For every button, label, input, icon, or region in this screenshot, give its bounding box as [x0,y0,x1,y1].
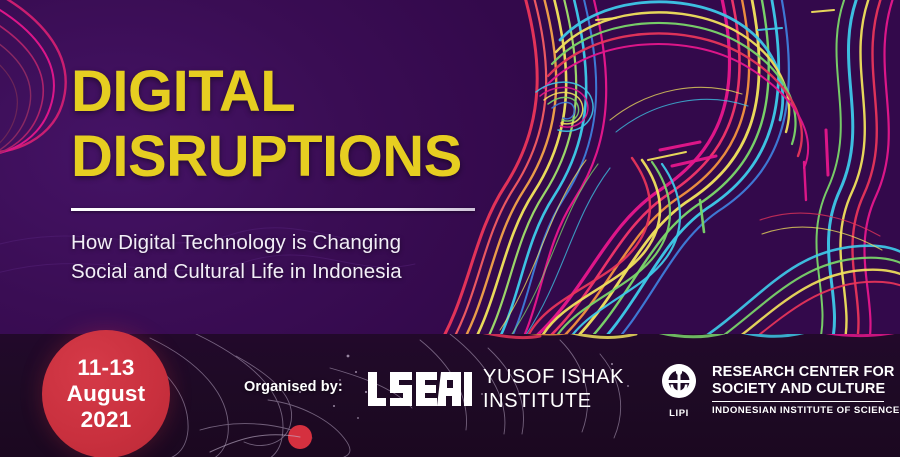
event-date-month: August [67,381,146,407]
iseas-institute-name: YUSOF ISHAK INSTITUTE [483,365,624,413]
iseas-name-line-2: INSTITUTE [483,389,624,413]
banner-hero-area: DIGITAL DISRUPTIONS How Digital Technolo… [0,0,900,334]
iseas-name-line-1: YUSOF ISHAK [483,365,624,389]
lipi-text-block: RESEARCH CENTER FOR SOCIETY AND CULTURE … [712,362,900,416]
title-divider [71,208,475,211]
lipi-name-line-2: SOCIETY AND CULTURE [712,381,900,398]
lipi-circle-cross-icon [656,362,702,402]
lipi-logo-lockup: LIPI RESEARCH CENTER FOR SOCIETY AND CUL… [656,362,900,419]
lipi-emblem-label: LIPI [656,408,702,419]
event-date-days: 11-13 [77,355,134,381]
event-banner: DIGITAL DISRUPTIONS How Digital Technolo… [0,0,900,457]
banner-subtitle: How Digital Technology is Changing Socia… [71,228,491,286]
iseas-wordmark-icon [368,372,472,406]
lipi-name: RESEARCH CENTER FOR SOCIETY AND CULTURE [712,364,900,398]
event-date-badge: 11-13 August 2021 [42,330,170,457]
banner-subtitle-line-1: How Digital Technology is Changing [71,228,491,257]
page-title-line-2: DISRUPTIONS [71,127,491,186]
banner-text-block: DIGITAL DISRUPTIONS How Digital Technolo… [71,62,491,287]
organised-by-label: Organised by: [244,379,343,395]
event-date-year: 2021 [81,407,132,433]
lipi-emblem: LIPI [656,362,702,419]
banner-subtitle-line-2: Social and Cultural Life in Indonesia [71,257,491,286]
lipi-divider [712,401,884,402]
lipi-name-line-1: RESEARCH CENTER FOR [712,364,900,381]
lipi-tagline: INDONESIAN INSTITUTE OF SCIENCES [712,405,900,416]
iseas-logo-lockup: YUSOF ISHAK INSTITUTE [368,365,624,413]
page-title-line-1: DIGITAL [71,62,491,121]
